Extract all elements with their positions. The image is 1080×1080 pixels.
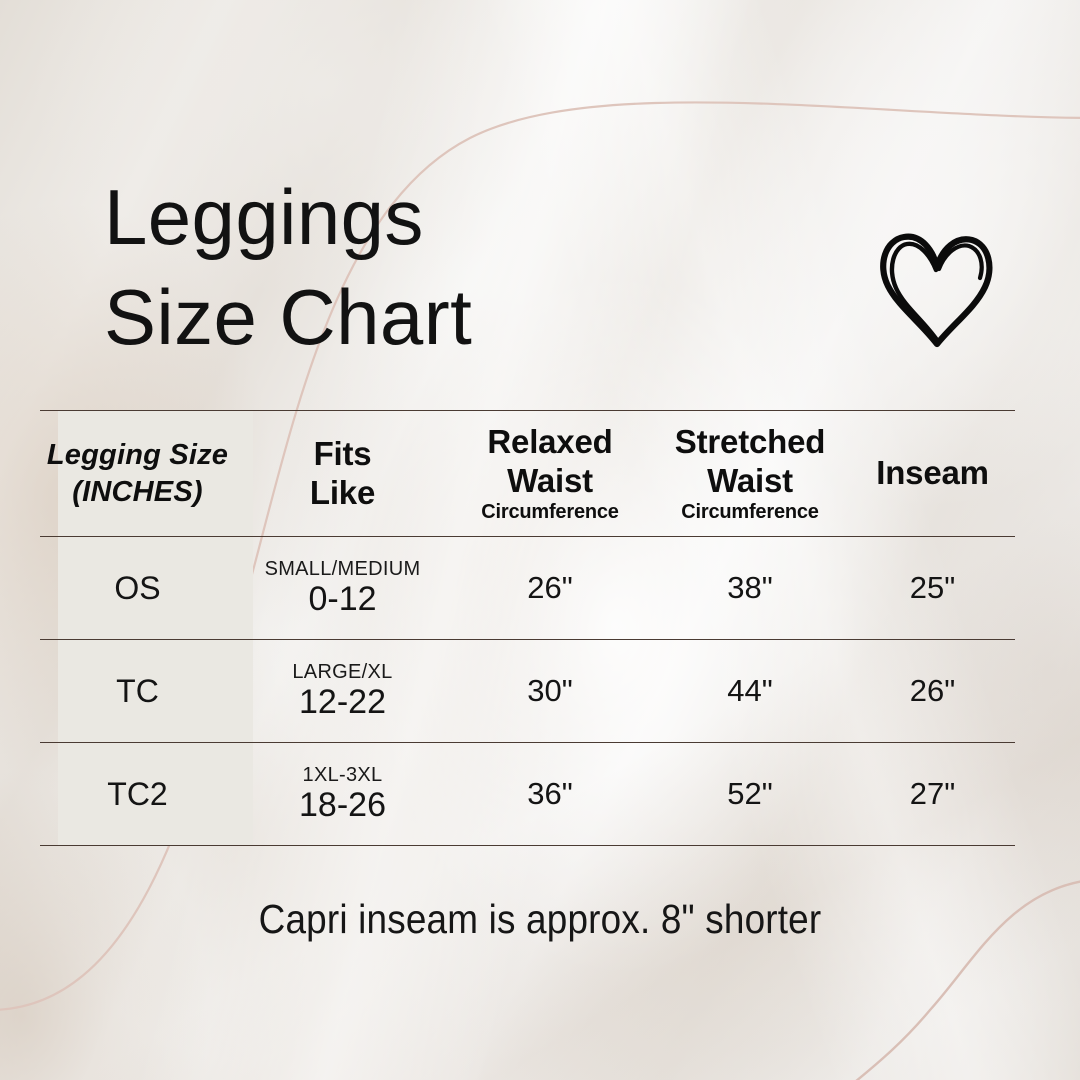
table-header: Legging Size (INCHES) Fits Like Relaxed … bbox=[40, 411, 1015, 537]
cell-inseam: 26" bbox=[850, 640, 1015, 743]
cell-inseam: 27" bbox=[850, 743, 1015, 846]
cell-relaxed-waist: 26" bbox=[450, 537, 650, 640]
fits-like-range: 18-26 bbox=[235, 786, 450, 825]
fits-like-label: 1XL-3XL bbox=[235, 764, 450, 787]
cell-fits-like: 1XL-3XL 18-26 bbox=[235, 743, 450, 846]
table-row: OS SMALL/MEDIUM 0-12 26" 38" 25" bbox=[40, 537, 1015, 640]
cell-stretched-waist: 44" bbox=[650, 640, 850, 743]
cell-size: TC bbox=[40, 640, 235, 743]
page-title: Leggings Size Chart bbox=[104, 168, 864, 368]
table-body: OS SMALL/MEDIUM 0-12 26" 38" 25" TC LARG… bbox=[40, 537, 1015, 846]
column-header-relaxed-waist: Relaxed Waist Circumference bbox=[450, 411, 650, 537]
relaxed-waist-label: Relaxed Waist bbox=[487, 423, 612, 499]
fits-like-range: 0-12 bbox=[235, 580, 450, 619]
fits-like-label: LARGE/XL bbox=[235, 661, 450, 684]
cell-relaxed-waist: 36" bbox=[450, 743, 650, 846]
relaxed-waist-sublabel: Circumference bbox=[450, 501, 650, 524]
cell-inseam: 25" bbox=[850, 537, 1015, 640]
size-chart-table-container: Legging Size (INCHES) Fits Like Relaxed … bbox=[40, 410, 1015, 846]
stretched-waist-sublabel: Circumference bbox=[650, 501, 850, 524]
heart-icon bbox=[868, 222, 1008, 362]
cell-stretched-waist: 38" bbox=[650, 537, 850, 640]
fits-like-label: SMALL/MEDIUM bbox=[235, 558, 450, 581]
cell-relaxed-waist: 30" bbox=[450, 640, 650, 743]
cell-size: OS bbox=[40, 537, 235, 640]
cell-fits-like: LARGE/XL 12-22 bbox=[235, 640, 450, 743]
fits-like-range: 12-22 bbox=[235, 683, 450, 722]
column-header-inseam: Inseam bbox=[850, 411, 1015, 537]
column-header-fits-like: Fits Like bbox=[235, 411, 450, 537]
footer-note: Capri inseam is approx. 8" shorter bbox=[54, 896, 1026, 943]
stretched-waist-label: Stretched Waist bbox=[675, 423, 825, 499]
size-chart-table: Legging Size (INCHES) Fits Like Relaxed … bbox=[40, 410, 1015, 846]
cell-size: TC2 bbox=[40, 743, 235, 846]
cell-stretched-waist: 52" bbox=[650, 743, 850, 846]
table-row: TC LARGE/XL 12-22 30" 44" 26" bbox=[40, 640, 1015, 743]
column-header-stretched-waist: Stretched Waist Circumference bbox=[650, 411, 850, 537]
table-header-row: Legging Size (INCHES) Fits Like Relaxed … bbox=[40, 411, 1015, 537]
cell-fits-like: SMALL/MEDIUM 0-12 bbox=[235, 537, 450, 640]
column-header-legging-size: Legging Size (INCHES) bbox=[40, 411, 235, 537]
table-row: TC2 1XL-3XL 18-26 36" 52" 27" bbox=[40, 743, 1015, 846]
